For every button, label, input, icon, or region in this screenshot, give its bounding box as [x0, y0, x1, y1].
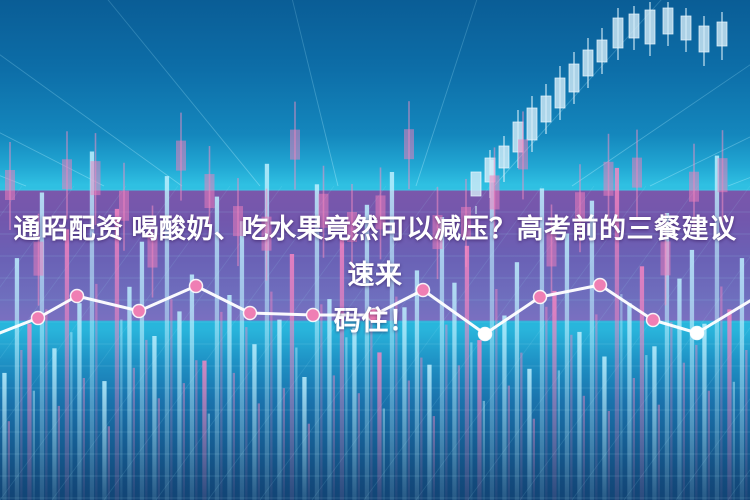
headline-text: 通昭配资 喝酸奶、吃水果竟然可以减压？高考前的三餐建议速来 码住！	[0, 206, 750, 344]
market-banner-image: 通昭配资 喝酸奶、吃水果竟然可以减压？高考前的三餐建议速来 码住！	[0, 0, 750, 500]
headline-line-2: 码住！	[2, 298, 748, 344]
headline-line-1: 通昭配资 喝酸奶、吃水果竟然可以减压？高考前的三餐建议速来	[2, 206, 748, 298]
